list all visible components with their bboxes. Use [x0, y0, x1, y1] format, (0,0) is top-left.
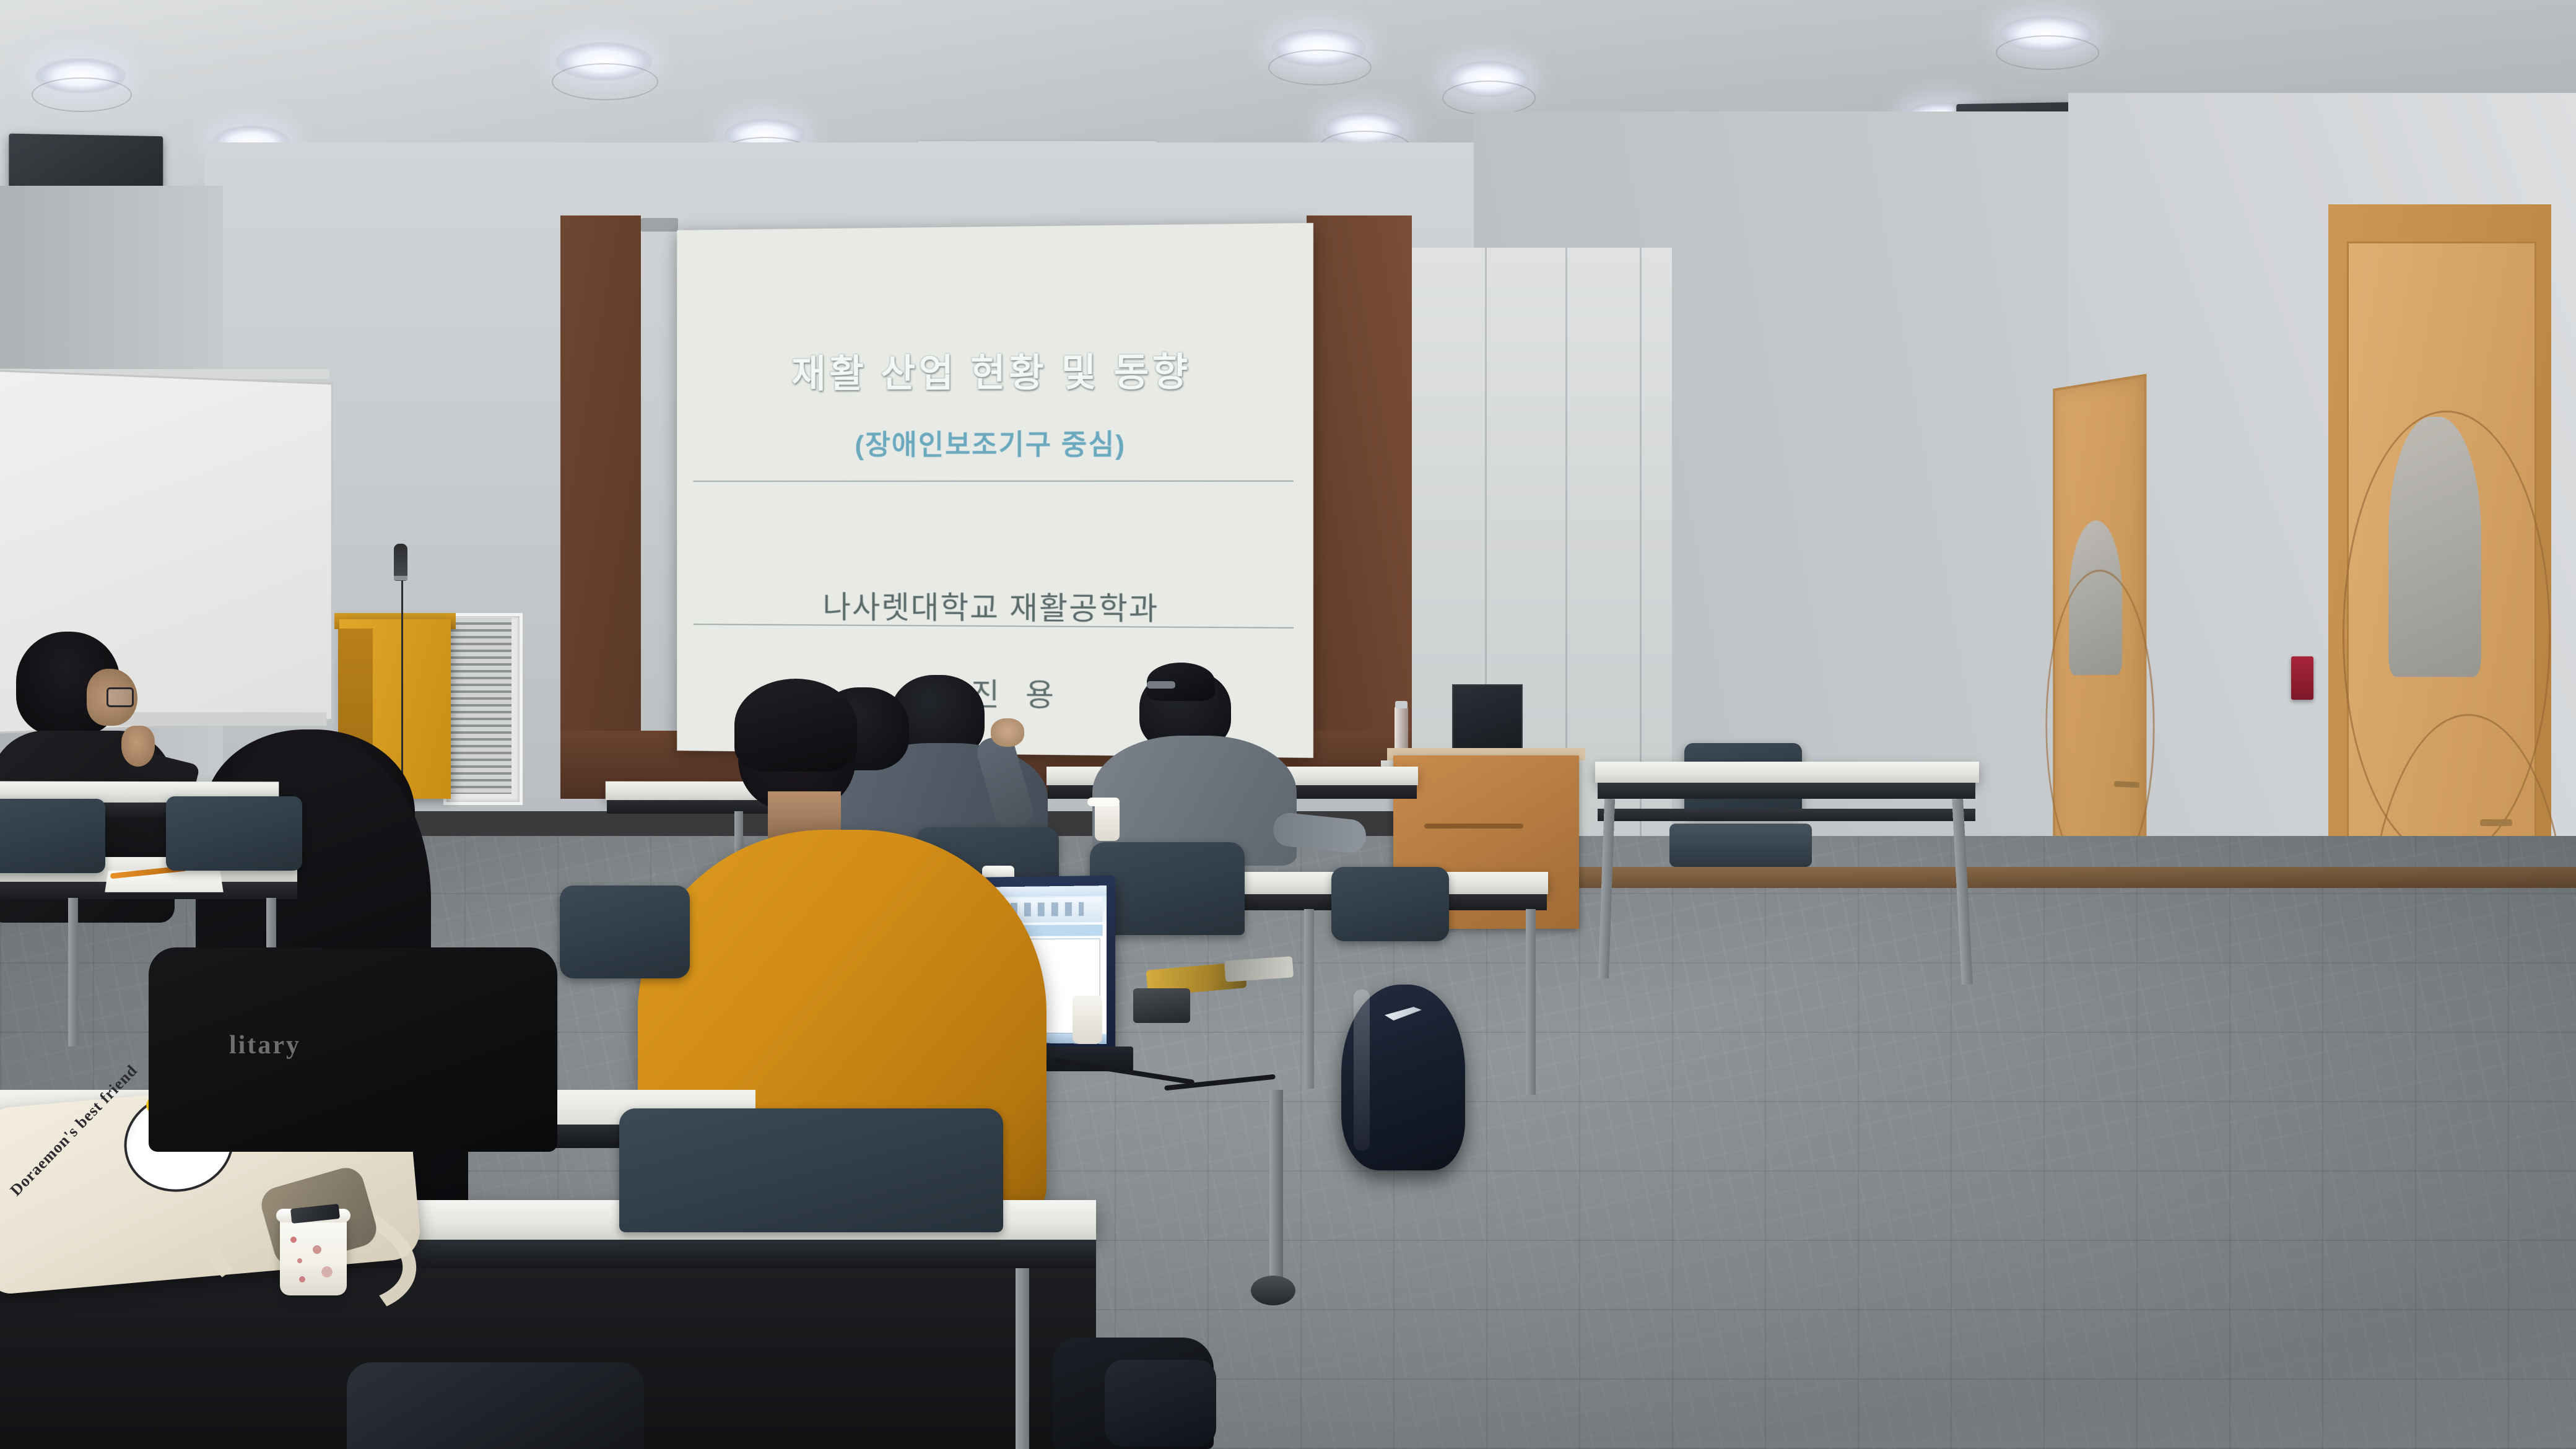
chair-seat[interactable] — [1669, 824, 1812, 867]
microphone-icon[interactable] — [394, 544, 407, 581]
microphone-cable — [401, 570, 403, 805]
chair-backrest[interactable] — [560, 885, 690, 978]
lecture-room-photo: 재활 산업 현황 및 동향 (장애인보조기구 중심) 나사렛대학교 재활공학과 … — [0, 0, 2576, 1449]
door-handle-icon[interactable] — [2480, 819, 2512, 826]
bottle-cap — [1395, 701, 1408, 708]
downlight-trim-ring — [32, 77, 132, 111]
wood-wall-panel-right — [1307, 215, 1412, 773]
desk-leg — [1526, 909, 1536, 1095]
downlight-trim-ring — [1996, 35, 2099, 69]
hoodie-text: litary — [229, 1030, 390, 1058]
fire-alarm-icon[interactable] — [2291, 656, 2313, 700]
student-hand — [991, 718, 1024, 747]
vent-louvers-icon — [448, 618, 511, 794]
hair-clip-icon — [1147, 681, 1175, 689]
student-hair — [734, 679, 857, 772]
chair-backrest[interactable] — [619, 1108, 1003, 1232]
paper-cup[interactable] — [1095, 803, 1120, 841]
screen-housing — [641, 218, 678, 232]
paper-cup-dots — [284, 1231, 343, 1292]
chair-backrest[interactable] — [1331, 867, 1449, 941]
slide-title: 재활 산업 현황 및 동향 — [693, 340, 1294, 399]
caster-wheel-icon — [1251, 1276, 1295, 1305]
desk-leg — [1269, 1090, 1283, 1288]
slide-subtitle: (장애인보조기구 중심) — [693, 422, 1294, 463]
small-device[interactable] — [1133, 988, 1190, 1023]
backpack-strap — [1354, 990, 1370, 1151]
student-hand — [121, 726, 155, 767]
desk-leg — [68, 898, 78, 1046]
table-crossbar — [1598, 809, 1975, 821]
desk-leg — [1304, 909, 1314, 1089]
glasses-icon — [107, 687, 134, 707]
downlight-trim-ring — [1268, 50, 1372, 85]
wood-wall-panel-left — [560, 215, 641, 754]
front-table-leg — [1016, 1268, 1029, 1449]
downlight-trim-ring — [552, 63, 658, 100]
student-shoulder — [347, 1362, 644, 1449]
folding-table-top[interactable] — [1595, 762, 1979, 783]
slide-organization: 나사렛대학교 재활공학과 — [693, 582, 1294, 630]
paper-cup[interactable] — [1073, 996, 1102, 1044]
chair-backrest[interactable] — [166, 796, 302, 871]
downlight-trim-ring — [1442, 80, 1536, 115]
bag-flap — [1105, 1360, 1216, 1447]
microphone-band — [394, 576, 407, 580]
cabinet-handle-icon[interactable] — [1424, 824, 1523, 829]
chair-backrest[interactable] — [0, 799, 105, 873]
table-apron — [1598, 783, 1975, 799]
paper-cup-rim — [1087, 798, 1120, 806]
